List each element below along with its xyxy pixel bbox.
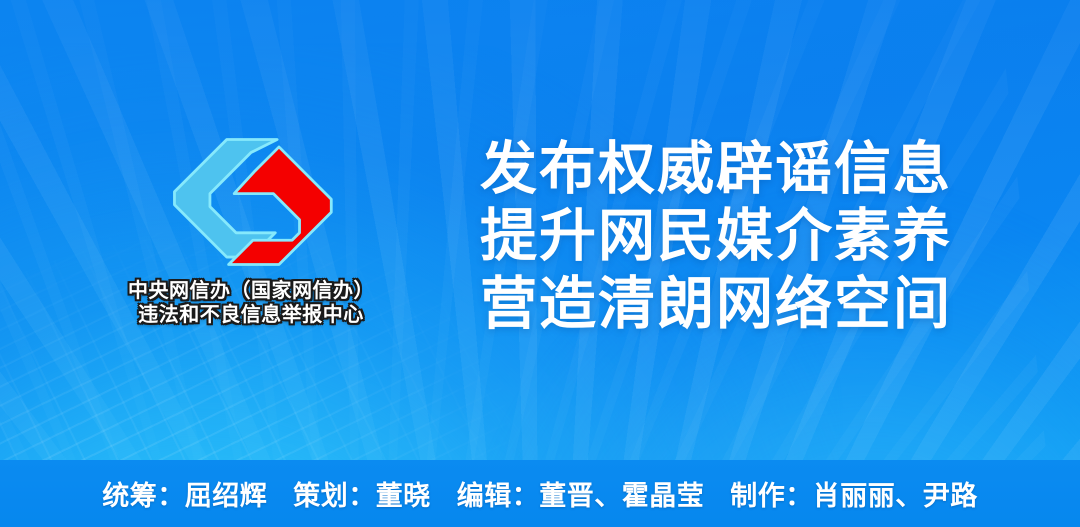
reporting-center-logo-icon: [156, 132, 346, 272]
credit-designer: 制作：肖丽丽、尹路: [730, 474, 978, 513]
credits-bar: 统筹：屈绍辉 策划：董晓 编辑：董晋、霍晶莹 制作：肖丽丽、尹路: [0, 460, 1080, 527]
logo-block: 中央网信办（国家网信办） 违法和不良信息举报中心: [96, 132, 406, 327]
logo-caption: 中央网信办（国家网信办） 违法和不良信息举报中心: [96, 280, 406, 327]
headline-line-2: 提升网民媒介素养: [480, 203, 980, 270]
credit-planner: 策划：董晓: [293, 474, 431, 513]
poster-canvas: 中央网信办（国家网信办） 违法和不良信息举报中心 发布权威辟谣信息 提升网民媒介…: [0, 0, 1080, 527]
credits-list: 统筹：屈绍辉 策划：董晓 编辑：董晋、霍晶莹 制作：肖丽丽、尹路: [102, 474, 978, 513]
headline-line-3: 营造清朗网络空间: [480, 271, 980, 338]
logo-caption-line-1: 中央网信办（国家网信办）: [96, 280, 406, 304]
logo-caption-line-2: 违法和不良信息举报中心: [96, 304, 406, 328]
credit-producer: 统筹：屈绍辉: [102, 474, 267, 513]
credit-editor: 编辑：董晋、霍晶莹: [457, 474, 705, 513]
headline-line-1: 发布权威辟谣信息: [480, 136, 980, 203]
headline-block: 发布权威辟谣信息 提升网民媒介素养 营造清朗网络空间: [480, 136, 980, 338]
